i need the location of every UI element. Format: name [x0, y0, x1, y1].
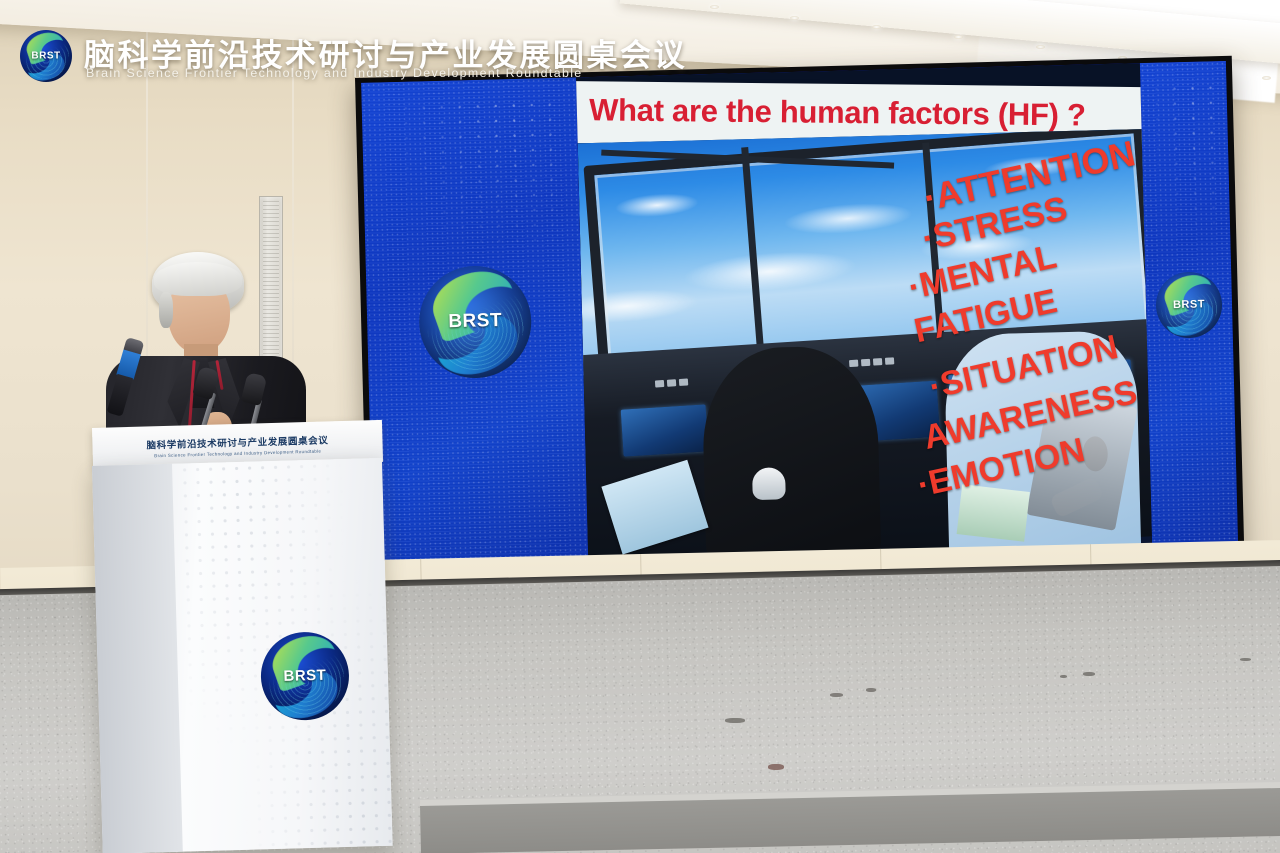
led-panel-right: BRST: [1140, 61, 1238, 547]
header-overlay: BRST 脑科学前沿技术研讨与产业发展圆桌会议 Brain Science Fr…: [0, 0, 1280, 100]
cockpit-photo: ·ATTENTION ·STRESS ·MENTAL FATIGUE ·SITU: [578, 129, 1152, 561]
slide-bullet-list: ·ATTENTION ·STRESS ·MENTAL FATIGUE ·SITU: [840, 151, 1150, 548]
brst-logo-right: BRST: [1155, 271, 1223, 339]
conference-photo: BRST BRST What are the human factors (HF…: [0, 0, 1280, 853]
podium: BRST: [92, 458, 393, 853]
led-panel-left: BRST: [361, 77, 588, 566]
brst-logo-left: BRST: [418, 265, 533, 380]
header-title-en: Brain Science Frontier Technology and In…: [86, 66, 583, 80]
presentation-slide: What are the human factors (HF) ?: [576, 63, 1152, 561]
led-video-wall: BRST BRST What are the human factors (HF…: [355, 56, 1244, 583]
header-brst-logo: BRST: [20, 30, 72, 82]
